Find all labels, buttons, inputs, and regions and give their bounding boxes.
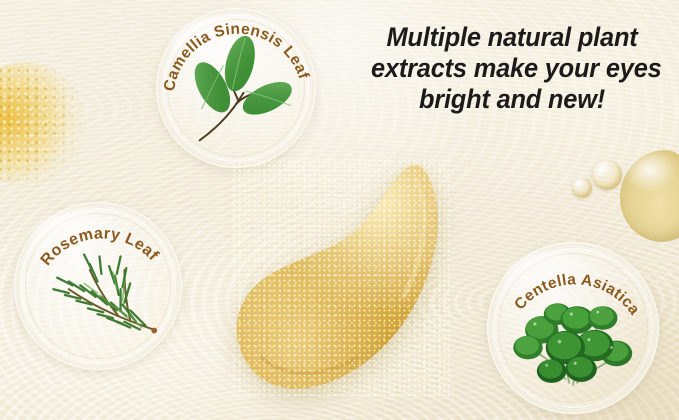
headline-line-1: Multiple natural plant: [371, 22, 653, 53]
dish-label-text: Camellia Sinensis Leaf: [161, 21, 312, 93]
page-title: Multiple natural plant extracts make you…: [371, 22, 653, 114]
dish-label-camellia: Camellia Sinensis Leaf: [156, 8, 316, 168]
ingredient-dish-camellia: Camellia Sinensis Leaf: [156, 8, 316, 168]
headline-line-2: extracts make your eyes: [371, 53, 653, 84]
gold-eye-patch: [232, 158, 450, 396]
dish-label-centella: Centella Asiatica: [487, 242, 659, 414]
dish-label-text: Centella Asiatica: [511, 271, 643, 318]
serum-droplet-small: [572, 178, 592, 198]
ingredient-dish-rosemary: Rosemary Leaf: [14, 202, 182, 370]
ad-banner: Camellia Sinensis Leaf: [0, 0, 679, 420]
dish-label-rosemary: Rosemary Leaf: [14, 202, 182, 370]
ingredient-dish-centella: Centella Asiatica: [487, 242, 659, 414]
serum-droplet-medium: [592, 160, 622, 190]
dish-label-text: Rosemary Leaf: [38, 225, 162, 269]
headline-line-3: bright and new!: [371, 84, 653, 115]
